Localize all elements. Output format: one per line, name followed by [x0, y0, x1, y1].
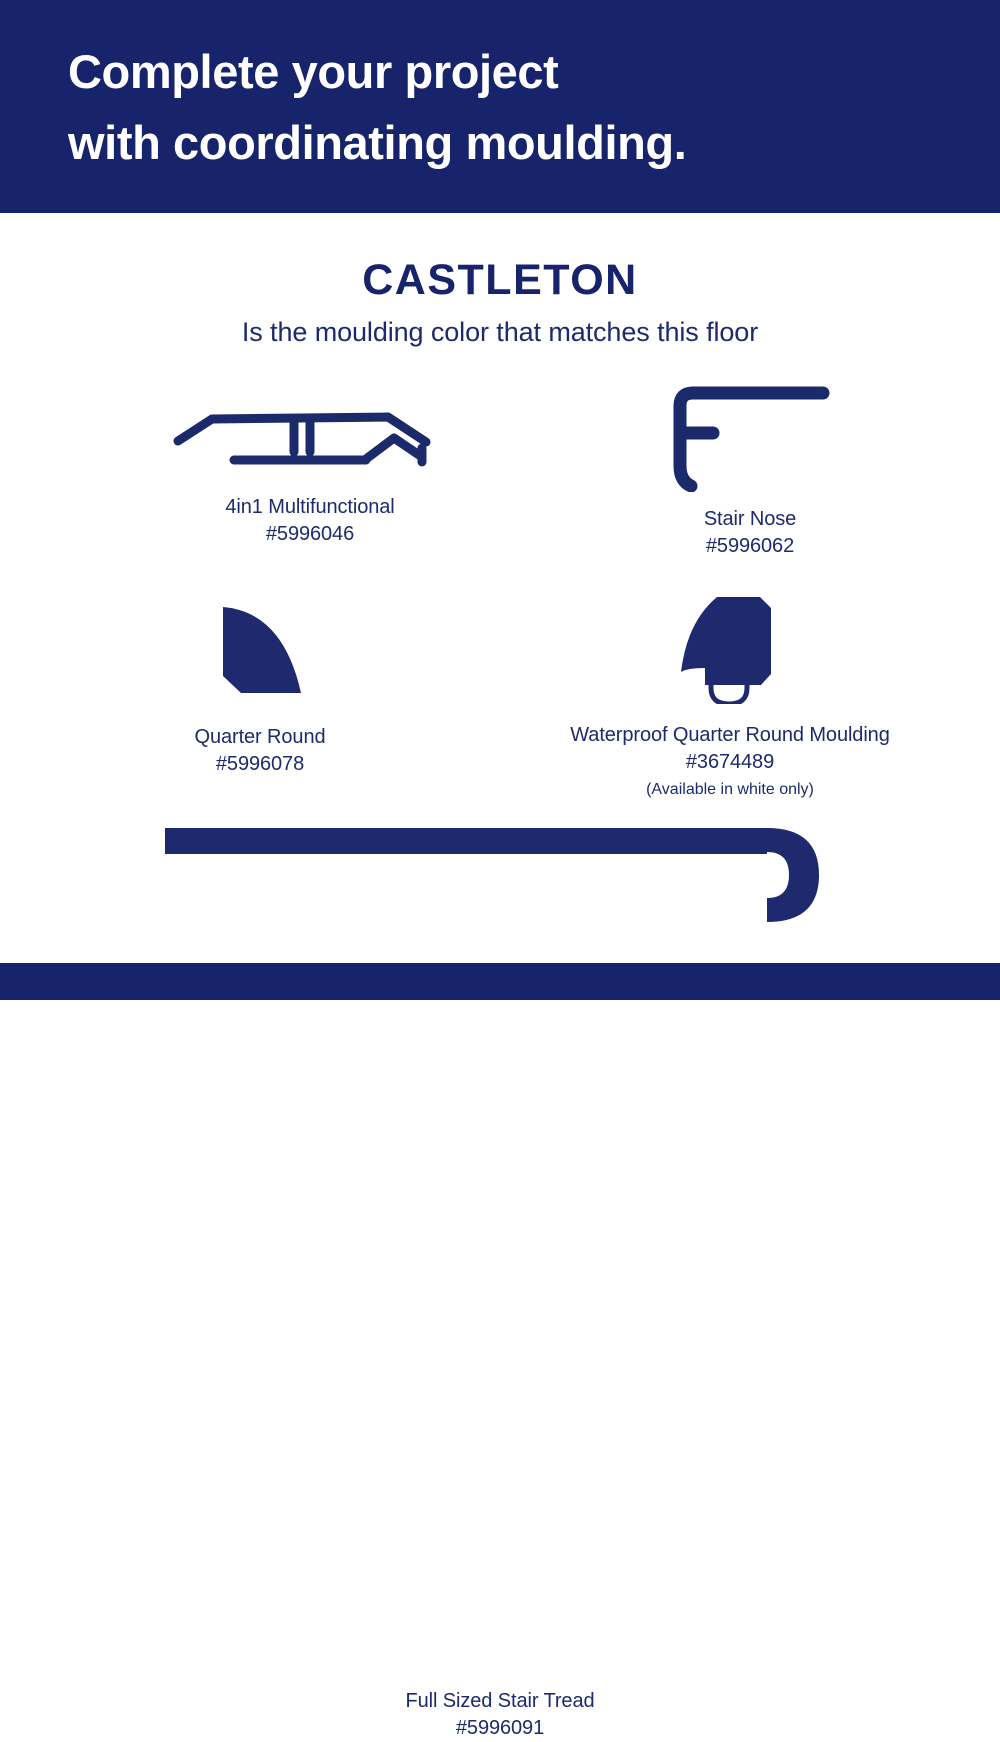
product-label: Waterproof Quarter Round Moulding #36744… [490, 722, 970, 776]
moulding-infographic: Complete your project with coordinating … [0, 0, 1000, 1000]
product-stair-nose[interactable]: Stair Nose #5996062 [560, 380, 940, 560]
stair-nose-profile-icon [665, 380, 835, 492]
full-sized-stair-tread-profile-icon [155, 820, 845, 930]
product-availability-note: (Available in white only) [490, 779, 970, 801]
product-waterproof-quarter-round[interactable]: Waterproof Quarter Round Moulding #36744… [490, 592, 970, 802]
quarter-round-profile-icon [205, 600, 315, 700]
header-banner: Complete your project with coordinating … [0, 0, 1000, 213]
brand-name: CASTLETON [0, 256, 1000, 305]
product-label: 4in1 Multifunctional #5996046 [80, 494, 540, 548]
waterproof-quarter-round-profile-icon [665, 592, 795, 704]
product-label: Full Sized Stair Tread #5996091 [0, 1688, 1000, 1742]
product-full-sized-stair-tread[interactable]: Full Sized Stair Tread #5996091 [0, 820, 1000, 930]
product-quarter-round[interactable]: Quarter Round #5996078 [110, 600, 410, 778]
brand-subtitle: Is the moulding color that matches this … [0, 317, 1000, 348]
product-label: Stair Nose #5996062 [560, 506, 940, 560]
product-4in1-multifunctional[interactable]: 4in1 Multifunctional #5996046 [80, 386, 540, 548]
tread-label-wrapper: Full Sized Stair Tread #5996091 [0, 1688, 1000, 1742]
header-headline: Complete your project with coordinating … [68, 36, 948, 179]
footer-band [0, 963, 1000, 1000]
product-label: Quarter Round #5996078 [110, 724, 410, 778]
4in1-multifunctional-profile-icon [170, 386, 450, 478]
